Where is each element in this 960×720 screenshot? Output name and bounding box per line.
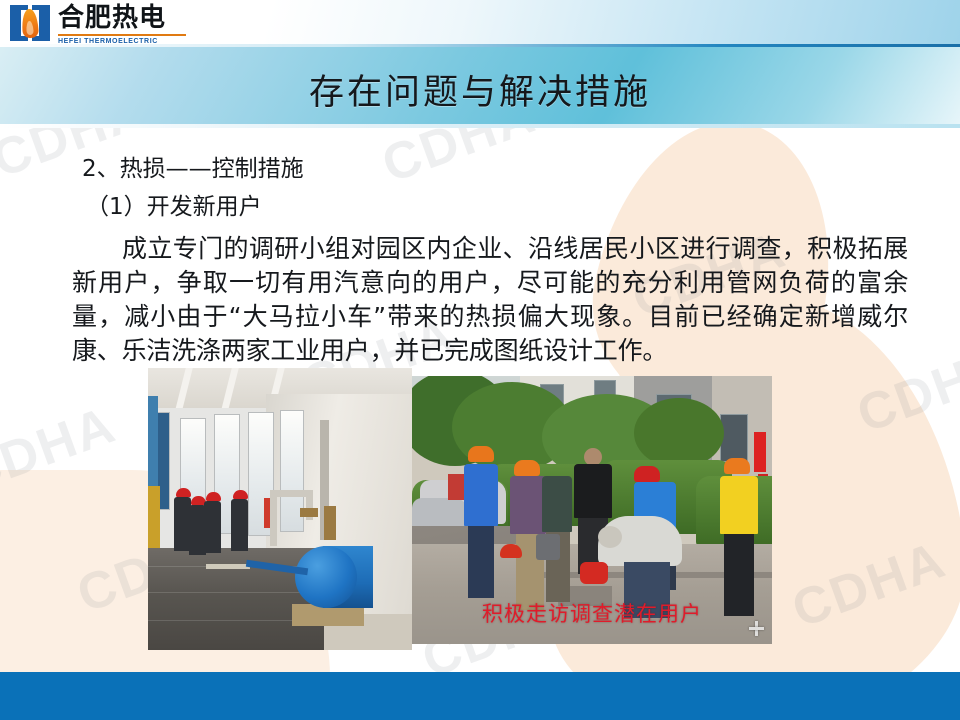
boiler-room-photo (148, 368, 412, 650)
presentation-slide: CDHA CDHA CDHA CDHA CDHA CDHA CDHA CDHA … (0, 0, 960, 720)
body-heading-1: 2、热损——控制措施 (82, 128, 960, 188)
zoom-plus-icon (748, 620, 764, 636)
logo-underline (58, 34, 186, 36)
footer-bar (0, 672, 960, 720)
body-paragraph: 成立专门的调研小组对园区内企业、沿线居民小区进行调查，积极拓展新用户，争取一切有… (72, 232, 908, 368)
logo-company-name-cn: 合肥热电 (58, 3, 186, 33)
flame-icon (8, 2, 52, 44)
photo-caption: 积极走访调查潜在用户 (412, 598, 772, 628)
logo-company-name-en: HEFEI THERMOELECTRIC (58, 37, 186, 46)
body-heading-2: （1）开发新用户 (86, 188, 960, 226)
field-survey-photo: 积极走访调查潜在用户 (412, 376, 772, 644)
slide-body: 2、热损——控制措施 （1）开发新用户 成立专门的调研小组对园区内企业、沿线居民… (0, 128, 960, 368)
page-title: 存在问题与解决措施 (0, 64, 960, 115)
company-logo: 合肥热电 HEFEI THERMOELECTRIC (8, 2, 190, 48)
